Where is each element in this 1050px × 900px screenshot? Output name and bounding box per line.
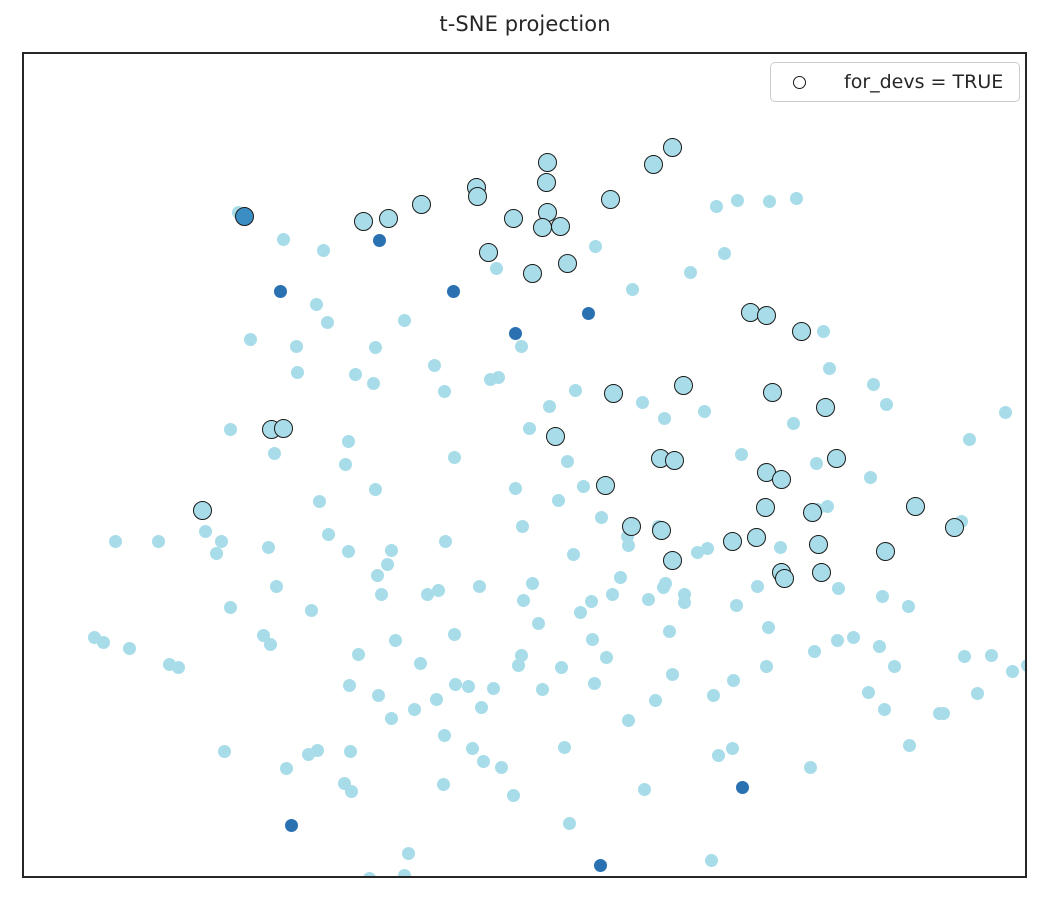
scatter-point <box>280 762 293 775</box>
scatter-point <box>774 541 787 554</box>
scatter-points-layer <box>24 54 1025 876</box>
scatter-point <box>658 412 671 425</box>
scatter-point <box>385 544 398 557</box>
scatter-point <box>712 749 725 762</box>
scatter-point <box>398 314 411 327</box>
scatter-point-for-devs <box>601 190 620 209</box>
scatter-point <box>448 628 461 641</box>
scatter-point-for-devs <box>756 498 775 517</box>
scatter-point <box>600 651 613 664</box>
scatter-point <box>367 377 380 390</box>
scatter-point <box>614 571 627 584</box>
scatter-point <box>352 648 365 661</box>
scatter-point <box>810 457 823 470</box>
scatter-point <box>218 745 231 758</box>
scatter-point <box>558 741 571 754</box>
scatter-point <box>577 480 590 493</box>
scatter-point-for-devs <box>235 207 254 226</box>
scatter-point <box>430 693 443 706</box>
scatter-point-for-devs <box>379 209 398 228</box>
scatter-point <box>790 192 803 205</box>
scatter-point <box>262 541 275 554</box>
scatter-point <box>707 689 720 702</box>
scatter-point-for-devs <box>757 306 776 325</box>
scatter-point <box>512 659 525 672</box>
scatter-point <box>684 266 697 279</box>
scatter-point <box>878 703 891 716</box>
scatter-point <box>735 448 748 461</box>
scatter-point <box>626 283 639 296</box>
scatter-point <box>691 546 704 559</box>
scatter-point <box>398 869 411 877</box>
scatter-point-for-devs <box>537 173 556 192</box>
scatter-point <box>817 325 830 338</box>
scatter-point <box>804 761 817 774</box>
scatter-point <box>257 629 270 642</box>
scatter-point <box>606 588 619 601</box>
scatter-point <box>663 625 676 638</box>
scatter-point <box>760 660 773 673</box>
scatter-point-for-devs <box>523 264 542 283</box>
scatter-point <box>343 679 356 692</box>
scatter-point <box>642 593 655 606</box>
scatter-point <box>999 406 1012 419</box>
scatter-point <box>438 385 451 398</box>
legend-marker-circle-icon <box>793 76 806 89</box>
scatter-point-for-devs <box>803 503 822 522</box>
scatter-point-for-devs <box>663 551 682 570</box>
scatter-point <box>199 525 212 538</box>
scatter-point <box>727 674 740 687</box>
scatter-point <box>344 745 357 758</box>
scatter-point-for-devs <box>723 532 742 551</box>
scatter-point <box>244 333 257 346</box>
scatter-point-for-devs <box>644 155 663 174</box>
scatter-point <box>821 500 834 513</box>
scatter-point-for-devs <box>816 398 835 417</box>
scatter-point-for-devs <box>546 427 565 446</box>
scatter-point <box>509 327 522 340</box>
scatter-point-for-devs <box>747 528 766 547</box>
scatter-point <box>437 778 450 791</box>
scatter-point <box>375 588 388 601</box>
scatter-point <box>649 694 662 707</box>
scatter-point <box>678 596 691 609</box>
scatter-point <box>526 577 539 590</box>
scatter-point-for-devs <box>763 383 782 402</box>
scatter-point <box>321 316 334 329</box>
scatter-point-for-devs <box>551 217 570 236</box>
scatter-point <box>873 640 886 653</box>
scatter-point <box>291 366 304 379</box>
scatter-point <box>622 714 635 727</box>
scatter-point-for-devs <box>663 138 682 157</box>
scatter-point-for-devs <box>504 209 523 228</box>
scatter-point <box>432 584 445 597</box>
scatter-point <box>730 599 743 612</box>
scatter-point <box>495 761 508 774</box>
scatter-point <box>311 744 324 757</box>
scatter-point <box>310 298 323 311</box>
scatter-point <box>731 194 744 207</box>
chart-page: t-SNE projection for_devs = TRUE <box>0 0 1050 900</box>
scatter-point <box>808 645 821 658</box>
scatter-point <box>123 642 136 655</box>
scatter-point <box>447 285 460 298</box>
scatter-point-for-devs <box>558 254 577 273</box>
scatter-point <box>339 458 352 471</box>
scatter-point <box>569 384 582 397</box>
scatter-point <box>588 677 601 690</box>
scatter-point <box>523 422 536 435</box>
scatter-point-for-devs <box>538 153 557 172</box>
scatter-point-for-devs <box>274 419 293 438</box>
scatter-point <box>285 819 298 832</box>
scatter-point-for-devs <box>468 187 487 206</box>
scatter-point <box>594 876 607 877</box>
scatter-point <box>475 701 488 714</box>
scatter-point <box>507 789 520 802</box>
scatter-point <box>710 200 723 213</box>
scatter-point <box>847 631 860 644</box>
scatter-point <box>862 686 875 699</box>
scatter-point-for-devs <box>792 322 811 341</box>
scatter-point-for-devs <box>906 497 925 516</box>
scatter-point <box>373 234 386 247</box>
scatter-point <box>389 634 402 647</box>
scatter-point <box>408 703 421 716</box>
scatter-point <box>369 341 382 354</box>
scatter-point-for-devs <box>652 521 671 540</box>
scatter-point <box>487 682 500 695</box>
scatter-point <box>736 781 749 794</box>
scatter-point-for-devs <box>604 384 623 403</box>
scatter-point <box>371 569 384 582</box>
scatter-point <box>466 742 479 755</box>
scatter-point <box>381 558 394 571</box>
scatter-point-for-devs <box>827 449 846 468</box>
scatter-point <box>532 617 545 630</box>
legend-label: for_devs = TRUE <box>844 71 1003 93</box>
scatter-point <box>509 482 522 495</box>
scatter-point <box>290 340 303 353</box>
scatter-point <box>152 535 165 548</box>
scatter-point <box>958 650 971 663</box>
scatter-point <box>1006 665 1019 678</box>
scatter-point <box>448 451 461 464</box>
scatter-point <box>762 621 775 634</box>
scatter-point <box>832 582 845 595</box>
scatter-point <box>536 683 549 696</box>
scatter-point <box>305 604 318 617</box>
scatter-point-for-devs <box>622 517 641 536</box>
scatter-point <box>586 633 599 646</box>
scatter-point <box>172 661 185 674</box>
scatter-point <box>338 777 351 790</box>
scatter-point <box>880 398 893 411</box>
scatter-point <box>876 590 889 603</box>
scatter-point <box>515 340 528 353</box>
scatter-point <box>638 783 651 796</box>
scatter-point <box>210 547 223 560</box>
scatter-point-for-devs <box>812 563 831 582</box>
scatter-point <box>971 687 984 700</box>
page-title: t-SNE projection <box>0 12 1050 36</box>
scatter-point <box>582 307 595 320</box>
scatter-point <box>109 535 122 548</box>
scatter-point <box>492 371 505 384</box>
scatter-point <box>552 494 565 507</box>
scatter-point-for-devs <box>479 243 498 262</box>
scatter-point <box>277 233 290 246</box>
scatter-point <box>657 581 670 594</box>
scatter-point <box>490 262 503 275</box>
scatter-point <box>864 471 877 484</box>
scatter-point-for-devs <box>809 535 828 554</box>
scatter-point <box>428 359 441 372</box>
scatter-point <box>215 535 228 548</box>
scatter-point <box>270 580 283 593</box>
scatter-point <box>369 483 382 496</box>
scatter-point <box>933 707 946 720</box>
scatter-point <box>342 435 355 448</box>
scatter-point <box>888 660 901 673</box>
scatter-point <box>622 539 635 552</box>
scatter-point <box>561 455 574 468</box>
scatter-point-for-devs <box>772 470 791 489</box>
scatter-point <box>372 689 385 702</box>
scatter-point-for-devs <box>674 376 693 395</box>
scatter-point <box>763 195 776 208</box>
scatter-point-for-devs <box>775 569 794 588</box>
scatter-point <box>268 447 281 460</box>
scatter-point <box>903 739 916 752</box>
scatter-point-for-devs <box>876 542 895 561</box>
scatter-point <box>449 678 462 691</box>
scatter-point <box>414 657 427 670</box>
scatter-point <box>595 511 608 524</box>
scatter-point <box>718 247 731 260</box>
scatter-point <box>594 859 607 872</box>
legend[interactable]: for_devs = TRUE <box>770 62 1020 102</box>
scatter-point <box>224 601 237 614</box>
scatter-point-for-devs <box>665 451 684 470</box>
scatter-point <box>97 636 110 649</box>
scatter-point <box>473 580 486 593</box>
scatter-point <box>574 606 587 619</box>
scatter-point <box>317 244 330 257</box>
scatter-point <box>985 649 998 662</box>
scatter-point <box>385 712 398 725</box>
scatter-point <box>313 495 326 508</box>
scatter-point <box>543 400 556 413</box>
scatter-point <box>322 528 335 541</box>
scatter-point <box>963 433 976 446</box>
scatter-point-for-devs <box>354 212 373 231</box>
scatter-point <box>666 668 679 681</box>
scatter-point-for-devs <box>412 195 431 214</box>
scatter-point <box>402 847 415 860</box>
scatter-point-for-devs <box>596 476 615 495</box>
scatter-point <box>705 854 718 867</box>
scatter-point <box>439 535 452 548</box>
scatter-point <box>438 729 451 742</box>
scatter-point <box>585 595 598 608</box>
scatter-point-for-devs <box>945 518 964 537</box>
scatter-point <box>698 405 711 418</box>
scatter-point <box>349 368 362 381</box>
scatter-point <box>563 817 576 830</box>
scatter-point <box>787 417 800 430</box>
scatter-point <box>555 661 568 674</box>
scatter-point <box>902 600 915 613</box>
scatter-point <box>342 545 355 558</box>
plot-area[interactable]: for_devs = TRUE <box>22 52 1027 878</box>
scatter-point <box>274 285 287 298</box>
scatter-point <box>567 548 580 561</box>
scatter-point <box>462 680 475 693</box>
scatter-point <box>516 520 529 533</box>
scatter-point <box>517 594 530 607</box>
scatter-point-for-devs <box>193 501 212 520</box>
scatter-point <box>823 362 836 375</box>
scatter-point-for-devs <box>533 218 552 237</box>
scatter-point <box>867 378 880 391</box>
scatter-point <box>751 580 764 593</box>
scatter-point <box>589 240 602 253</box>
scatter-point <box>726 742 739 755</box>
scatter-point <box>363 872 376 877</box>
scatter-point <box>1021 659 1026 672</box>
scatter-point <box>224 423 237 436</box>
scatter-point <box>831 634 844 647</box>
scatter-point <box>477 755 490 768</box>
scatter-point <box>636 396 649 409</box>
